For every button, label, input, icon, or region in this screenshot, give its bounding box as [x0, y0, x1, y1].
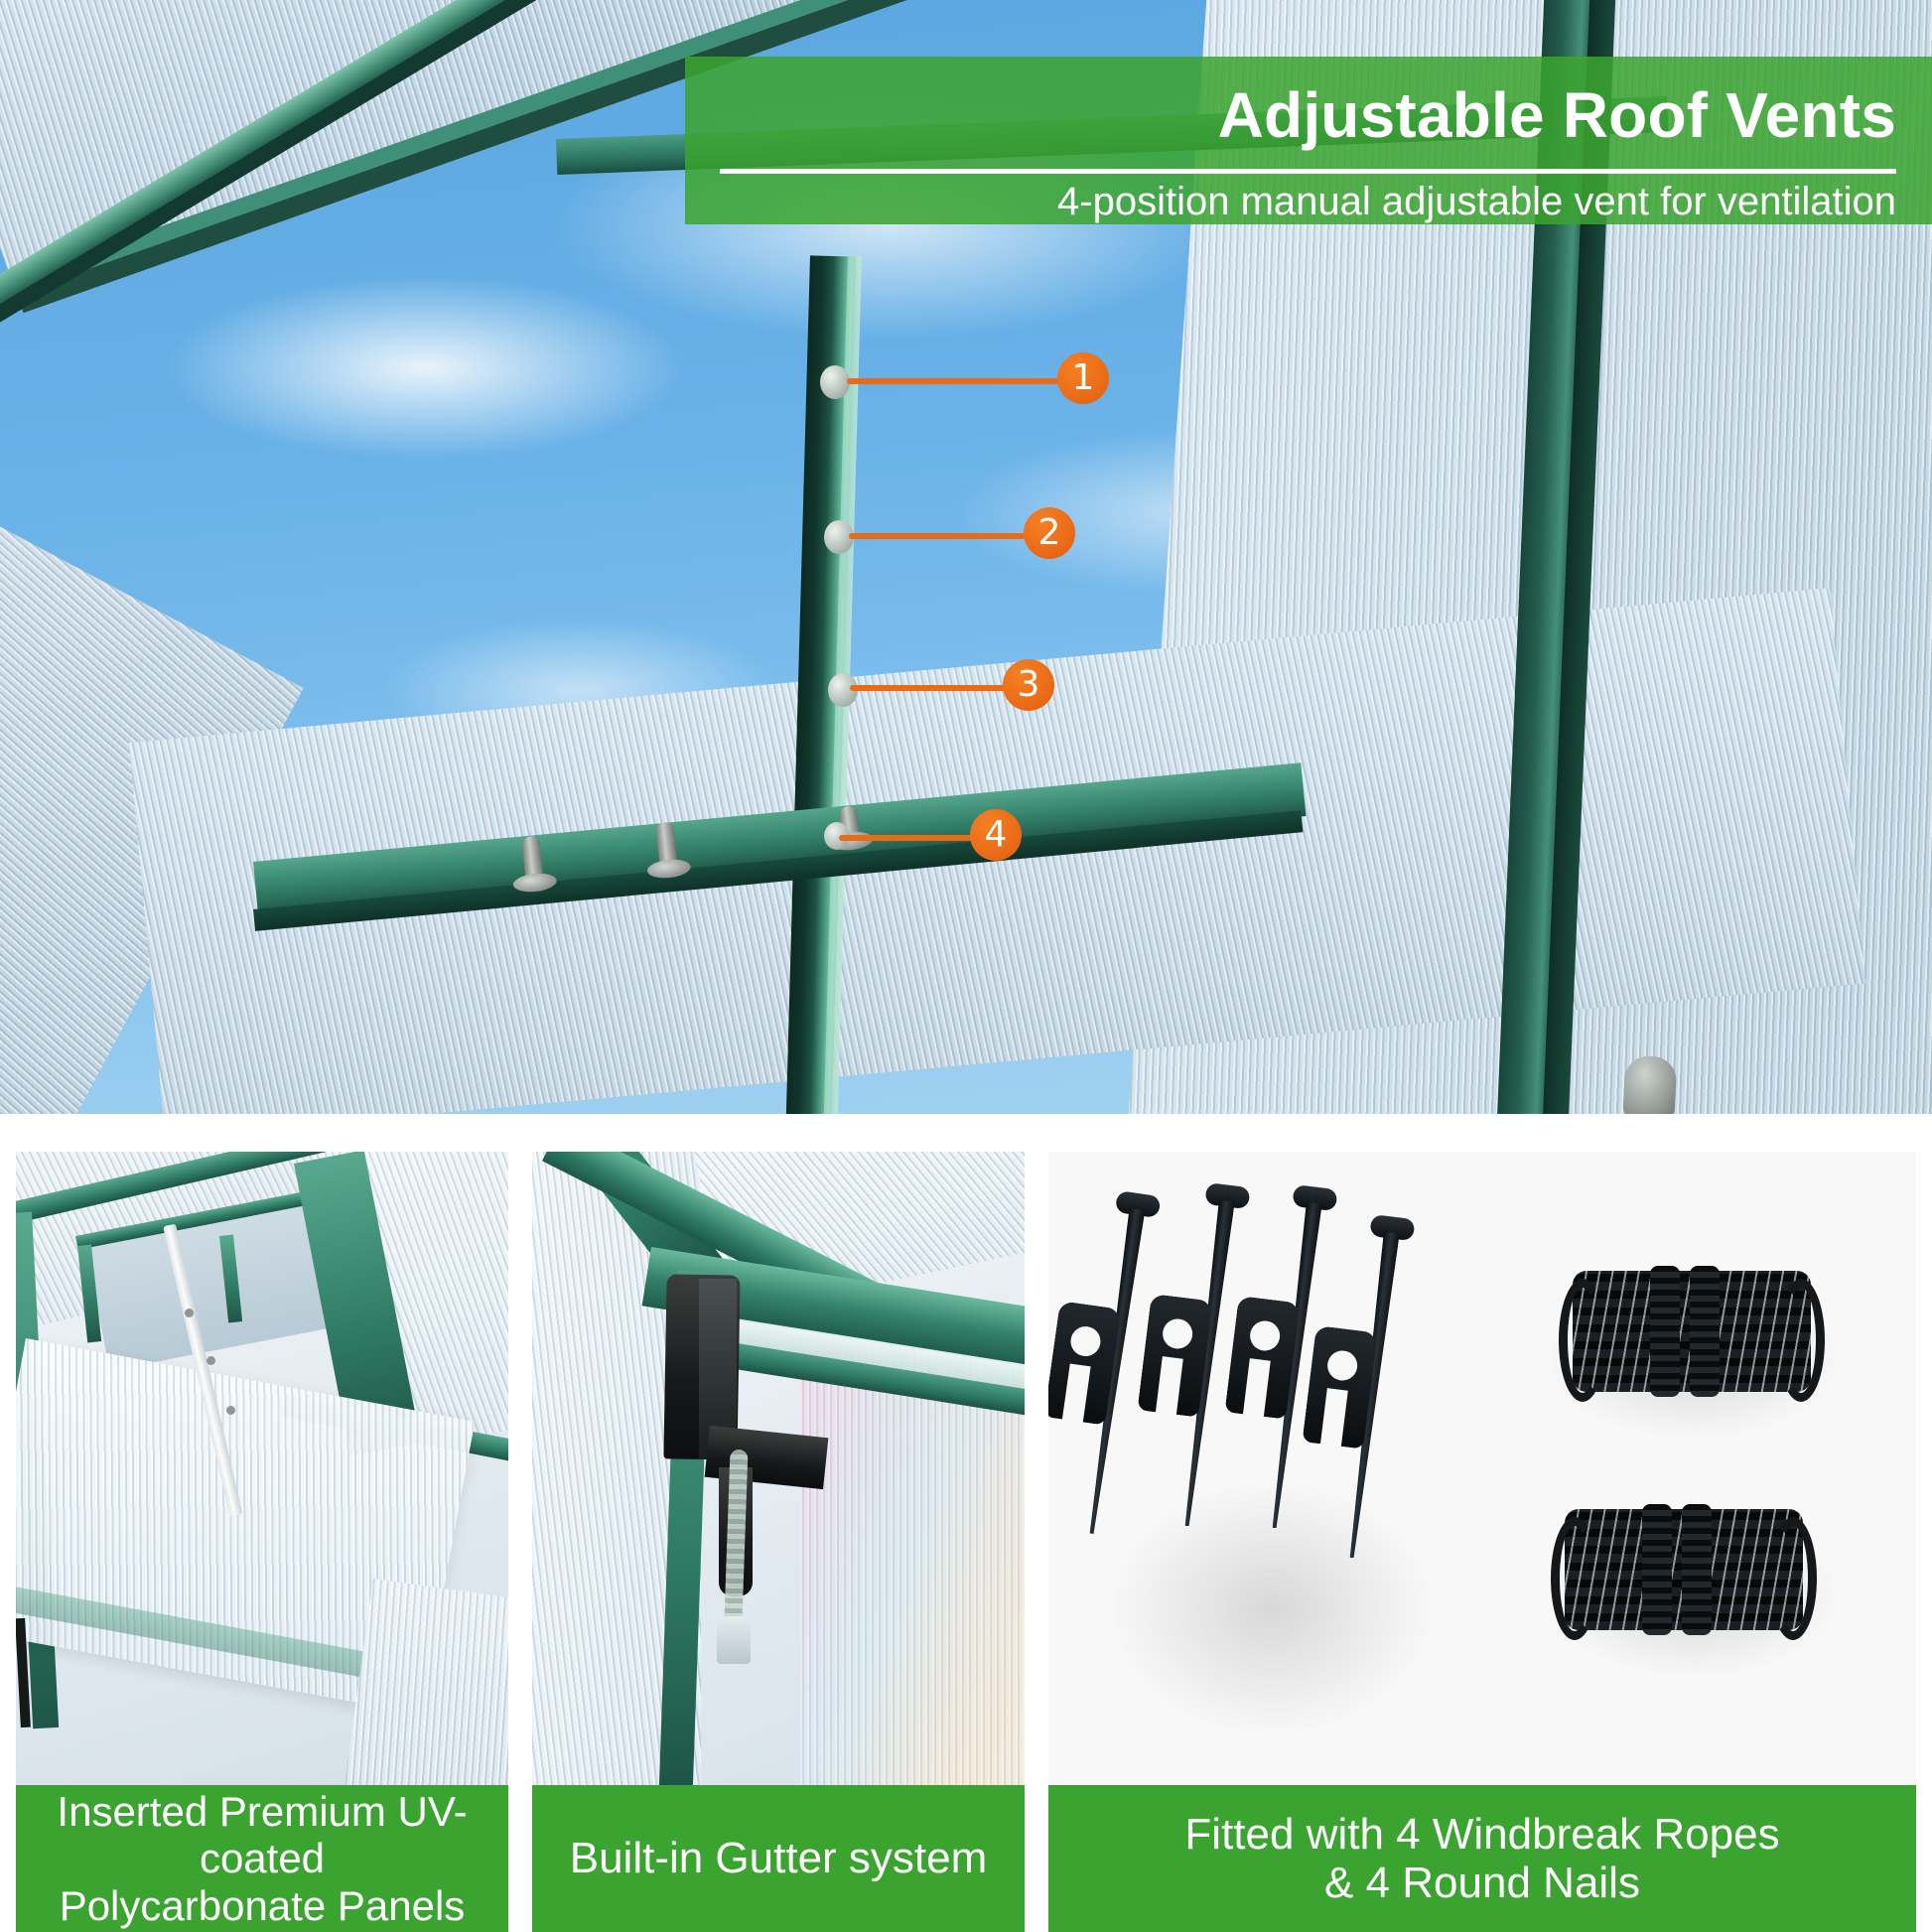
product-feature-image: 1 2 3 4 Adjustable Roof Vents 4-position…	[0, 0, 1932, 1932]
polycarbonate-panels-card: Inserted Premium UV-coatedPolycarbonate …	[16, 1152, 508, 1932]
windbreak-rope-coil	[1565, 1509, 1803, 1630]
hose-clip	[717, 1616, 751, 1664]
caption-text: Fitted with 4 Windbreak Ropes& 4 Round N…	[1184, 1810, 1779, 1908]
card-caption: Inserted Premium UV-coatedPolycarbonate …	[16, 1785, 508, 1932]
rope-loop-left	[1559, 1279, 1606, 1402]
gutter-system-card: Built-in Gutter system	[532, 1152, 1025, 1932]
card-caption: Fitted with 4 Windbreak Ropes& 4 Round N…	[1048, 1785, 1916, 1932]
banner-divider	[720, 169, 1896, 174]
rope-loop-right	[1769, 1517, 1817, 1640]
caption-text: Built-in Gutter system	[570, 1834, 988, 1883]
page-subtitle: 4-position manual adjustable vent for ve…	[685, 180, 1896, 224]
caption-text: Inserted Premium UV-coatedPolycarbonate …	[24, 1788, 500, 1928]
rope-loop-right	[1777, 1279, 1825, 1402]
callout-badge-2: 2	[1024, 507, 1075, 559]
windbreak-rope-coil	[1573, 1271, 1811, 1392]
callout-badge-3: 3	[1003, 659, 1054, 711]
rope-binding	[1682, 1504, 1712, 1635]
header-banner: Adjustable Roof Vents 4-position manual …	[685, 57, 1932, 224]
rope-binding	[1690, 1266, 1720, 1397]
callout-badge-1: 1	[1057, 352, 1109, 404]
stakes-shadow	[1108, 1479, 1436, 1737]
rope-loop-left	[1551, 1517, 1598, 1640]
vent-latch-handle	[1622, 1055, 1677, 1114]
windbreak-ropes-nails-card: Fitted with 4 Windbreak Ropes& 4 Round N…	[1048, 1152, 1916, 1932]
page-title: Adjustable Roof Vents	[685, 78, 1896, 152]
vent-position-notch-1	[820, 365, 850, 399]
stay-arm-hole	[226, 1406, 235, 1415]
iridescent-sheen	[800, 1350, 1025, 1807]
caption-line-2: & 4 Round Nails	[1324, 1859, 1640, 1907]
stay-arm-hole	[185, 1309, 194, 1317]
callout-leader-3	[850, 685, 1024, 691]
caption-line-1: Fitted with 4 Windbreak Ropes	[1184, 1810, 1779, 1859]
caption-line-1: Inserted Premium UV-coated	[57, 1788, 467, 1881]
rope-binding	[1642, 1504, 1672, 1635]
feature-cards-row: Inserted Premium UV-coatedPolycarbonate …	[0, 1152, 1932, 1932]
wall-panel-right	[800, 1350, 1025, 1807]
caption-line-2: Polycarbonate Panels	[60, 1882, 466, 1929]
stay-arm-hole	[207, 1356, 215, 1365]
callout-badge-4: 4	[970, 809, 1022, 861]
card-caption: Built-in Gutter system	[532, 1785, 1025, 1932]
rope-binding	[1650, 1266, 1680, 1397]
callout-leader-2	[849, 533, 1042, 539]
callout-leader-1	[847, 378, 1075, 384]
hero-image: 1 2 3 4 Adjustable Roof Vents 4-position…	[0, 0, 1932, 1114]
